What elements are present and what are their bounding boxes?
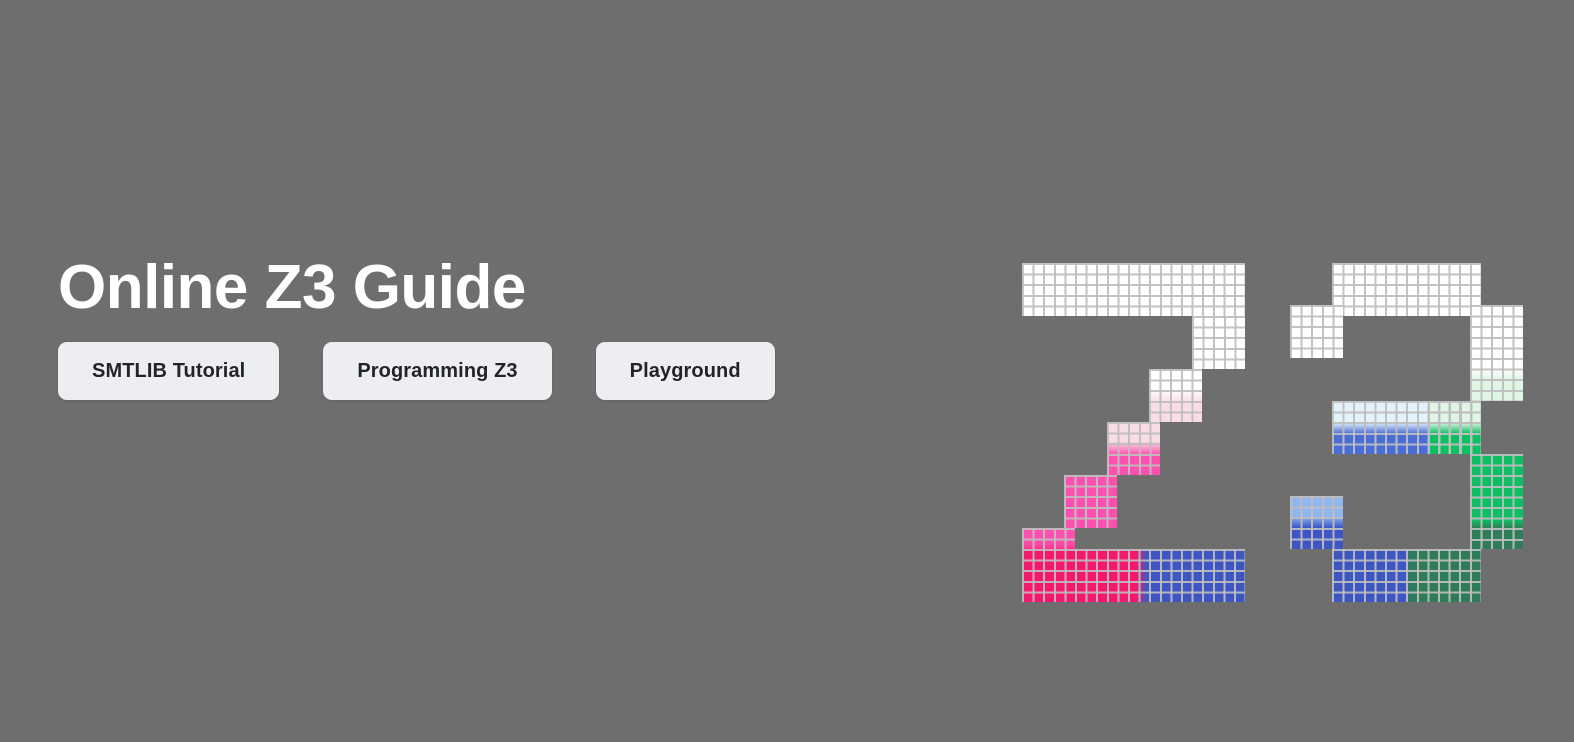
- page-title: Online Z3 Guide: [58, 255, 958, 320]
- cta-button-row: SMTLIB Tutorial Programming Z3 Playgroun…: [58, 342, 958, 400]
- z-step-1: [1192, 316, 1245, 369]
- hero-section: Online Z3 Guide SMTLIB Tutorial Programm…: [58, 255, 958, 400]
- three-top-left-stub: [1290, 305, 1343, 358]
- z3-pixel-logo: [1022, 263, 1522, 588]
- programming-z3-button[interactable]: Programming Z3: [323, 342, 551, 400]
- three-middle-bar-green-half: [1428, 401, 1481, 454]
- three-right-upper: [1470, 305, 1523, 400]
- smtlib-tutorial-button[interactable]: SMTLIB Tutorial: [58, 342, 279, 400]
- three-top-bar: [1332, 263, 1480, 316]
- three-bottom-bar: [1332, 549, 1480, 602]
- z-step-2: [1149, 369, 1202, 422]
- z-step-3: [1107, 422, 1160, 475]
- z-step-4: [1064, 475, 1117, 528]
- three-bottom-stub: [1290, 496, 1343, 549]
- playground-button[interactable]: Playground: [596, 342, 775, 400]
- z-top-bar: [1022, 263, 1245, 316]
- three-middle-bar: [1332, 401, 1480, 454]
- three-right-lower: [1470, 454, 1523, 549]
- z-bottom-bar: [1022, 549, 1245, 602]
